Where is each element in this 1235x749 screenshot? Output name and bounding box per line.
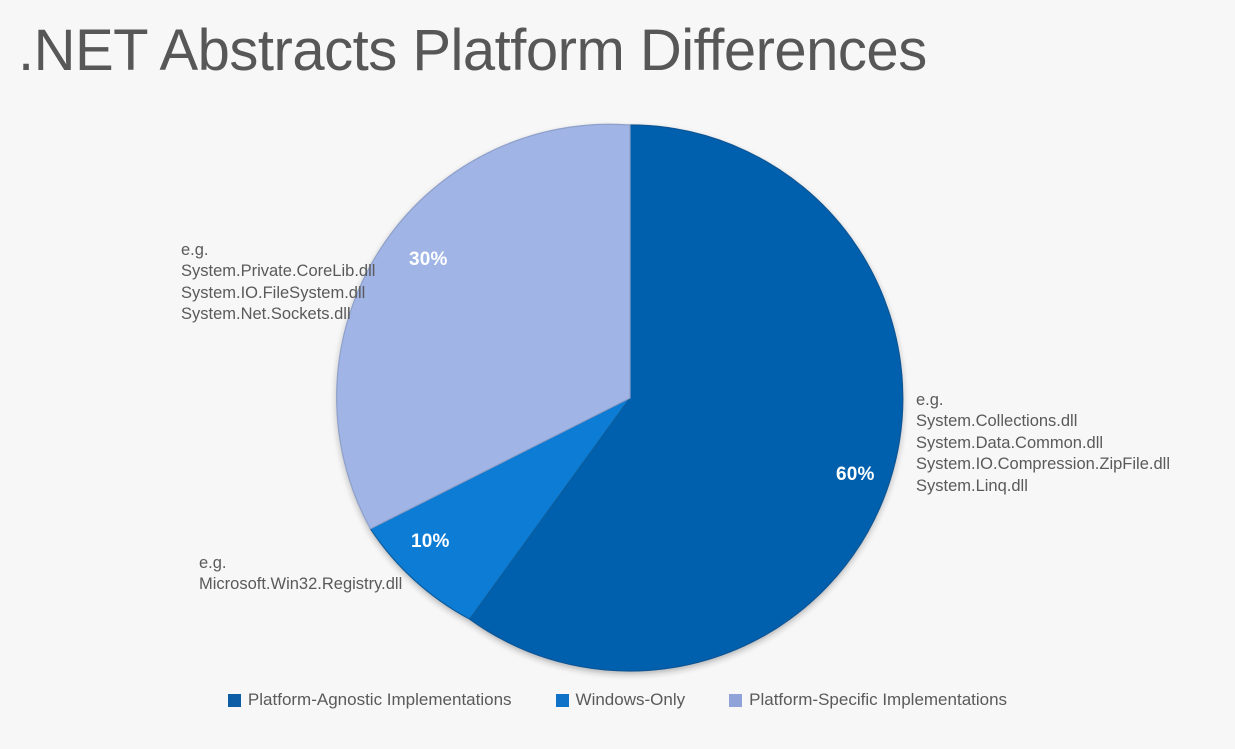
legend-label: Platform-Agnostic Implementations bbox=[248, 690, 512, 710]
legend-item-windows-only[interactable]: Windows-Only bbox=[556, 690, 686, 710]
legend-item-platform-agnostic[interactable]: Platform-Agnostic Implementations bbox=[228, 690, 512, 710]
legend-swatch-icon bbox=[556, 694, 569, 707]
legend-item-platform-specific[interactable]: Platform-Specific Implementations bbox=[729, 690, 1007, 710]
chart-legend: Platform-Agnostic Implementations Window… bbox=[0, 690, 1235, 710]
annotation-platform-agnostic: e.g. System.Collections.dll System.Data.… bbox=[916, 390, 1170, 497]
pie-chart: e.g. System.Private.CoreLib.dll System.I… bbox=[0, 0, 1235, 749]
pie-slices-group bbox=[337, 124, 903, 671]
data-label-platform-specific: 30% bbox=[409, 249, 448, 271]
legend-label: Platform-Specific Implementations bbox=[749, 690, 1007, 710]
data-label-windows-only: 10% bbox=[411, 531, 450, 553]
legend-label: Windows-Only bbox=[576, 690, 686, 710]
data-label-platform-agnostic: 60% bbox=[836, 464, 875, 486]
annotation-platform-specific: e.g. System.Private.CoreLib.dll System.I… bbox=[181, 240, 375, 326]
pie-chart-graphic bbox=[0, 0, 1235, 749]
legend-swatch-icon bbox=[729, 694, 742, 707]
legend-swatch-icon bbox=[228, 694, 241, 707]
slide-canvas: .NET Abstracts Platform Differences e.g.… bbox=[0, 0, 1235, 749]
annotation-windows-only: e.g. Microsoft.Win32.Registry.dll bbox=[199, 553, 402, 596]
